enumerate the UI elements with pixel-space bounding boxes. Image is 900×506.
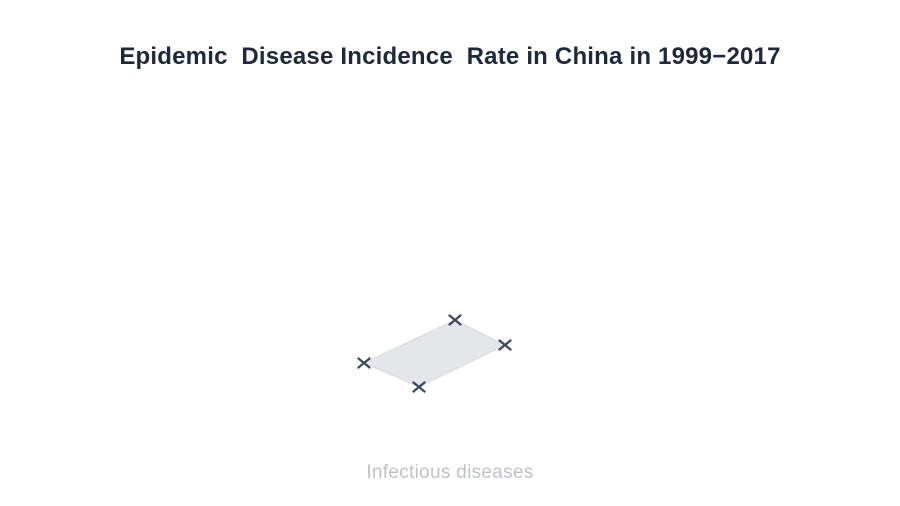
surface-base-plane bbox=[364, 320, 505, 387]
axis-label-infectious-diseases: Infectious diseases bbox=[0, 461, 900, 485]
scene-3d-plot[interactable] bbox=[0, 0, 900, 506]
chart-canvas: Epidemic Disease Incidence Rate in China… bbox=[0, 0, 900, 506]
scene-svg-root bbox=[0, 0, 900, 506]
